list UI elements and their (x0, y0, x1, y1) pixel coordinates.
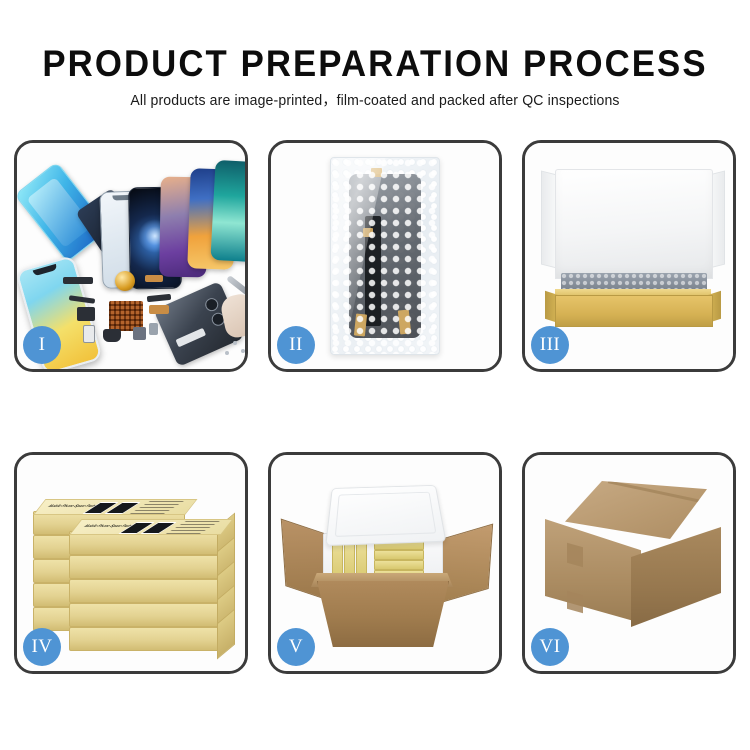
carton-top-face (565, 481, 707, 539)
adhesive-tape (398, 309, 411, 334)
speaker-module-component (103, 329, 121, 342)
process-step-3: III (522, 140, 736, 372)
retail-box (69, 579, 221, 603)
box-front-panel (555, 295, 713, 327)
retail-box (69, 627, 221, 651)
camera-module-component (133, 327, 146, 340)
gold-connector-component (149, 305, 169, 314)
step-badge-5: V (277, 628, 315, 666)
carton-tape-patch (567, 591, 583, 614)
packed-retail-box (374, 560, 424, 570)
step-badge-4: IV (23, 628, 61, 666)
step-badge-2: II (277, 326, 315, 364)
carton-tape-patch (567, 543, 583, 568)
process-step-1: I (14, 140, 248, 372)
step-badge-6: VI (531, 628, 569, 666)
process-step-2: II (268, 140, 502, 372)
flex-cable-component (147, 294, 171, 302)
flex-cable-component (63, 277, 93, 284)
box-top-face: Mobile Phone Spare Parts (69, 519, 234, 535)
camera-lens-icon (203, 296, 220, 313)
process-step-4: Mobile Phone Spare Parts Mobile Phone Sp… (14, 452, 248, 674)
open-shipping-carton (289, 477, 483, 655)
process-step-grid: I II (0, 0, 750, 750)
step-badge-1: I (23, 326, 61, 364)
box-top-face: Mobile Phone Spare Parts (33, 499, 198, 515)
carton-body (317, 581, 449, 647)
carton-side-face (631, 527, 721, 627)
bubble-wrap-pouch (330, 157, 440, 355)
sim-tray-component (83, 325, 95, 343)
phone-teal-display (210, 160, 245, 262)
carton-front-face (545, 519, 641, 623)
screw-icon (233, 341, 237, 345)
adhesive-tape (354, 313, 367, 336)
packed-retail-box (374, 550, 424, 560)
retail-box (69, 555, 221, 579)
process-step-6: VI (522, 452, 736, 674)
speaker-coil-component (115, 271, 135, 291)
gold-connector-component (145, 275, 163, 282)
retail-box (69, 603, 221, 627)
retail-box-stack: Mobile Phone Spare Parts Mobile Phone Sp… (33, 473, 229, 659)
battery-strip (175, 328, 206, 348)
screw-icon (241, 349, 245, 353)
screw-icon (225, 351, 229, 355)
step-badge-3: III (531, 326, 569, 364)
vibrator-component (149, 323, 158, 335)
carton-seam (608, 480, 710, 505)
retail-box: Mobile Phone Spare Parts (69, 531, 221, 555)
sealed-shipping-carton (545, 481, 721, 639)
kraft-box-open (547, 169, 719, 329)
white-foam-lid (555, 169, 713, 279)
styrofoam-lid (325, 485, 446, 546)
process-step-5: V (268, 452, 502, 674)
flex-cable-component (77, 307, 95, 321)
